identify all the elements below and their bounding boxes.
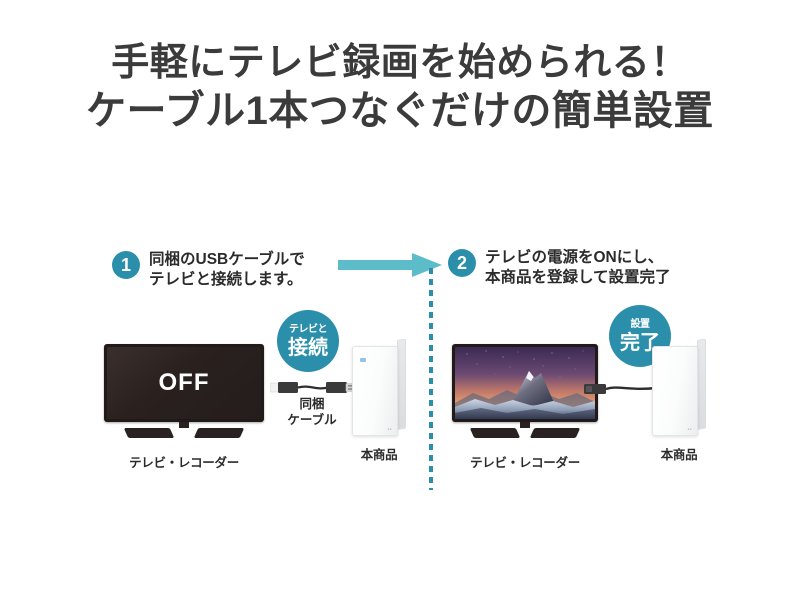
hdd-step-2-label: 本商品 <box>634 444 724 463</box>
hdd-step-1-label: 本商品 <box>334 444 424 463</box>
usb-cable-label-line-1: 同梱 <box>262 396 362 412</box>
usb-cable-label: 同梱 ケーブル <box>262 396 362 428</box>
step-1-line-2: テレビと接続します。 <box>149 270 305 290</box>
usb-cable-label-line-2: ケーブル <box>262 412 362 428</box>
tv-step-2-label: テレビ・レコーダー <box>452 452 598 471</box>
badge-connect-small: テレビと <box>289 325 327 335</box>
usb-cable-connected-icon <box>584 382 656 396</box>
hdd-brand-mark: ●● <box>387 427 392 431</box>
tv-screen-on <box>455 347 595 419</box>
tv-stand <box>452 428 598 439</box>
step-1-line-1: 同梱のUSBケーブルで <box>149 250 305 270</box>
usb-cable-icon <box>270 380 354 396</box>
tv-foot-left <box>470 428 520 438</box>
step-2-line-1: テレビの電源をONにし、 <box>485 248 671 268</box>
headline-line-1-text: 手軽にテレビ録画を始められる！ <box>111 42 689 84</box>
badge-connect-large: 接続 <box>288 338 328 358</box>
badge-done-small: 設置 <box>631 320 650 330</box>
hdd-body: ●● <box>652 340 706 436</box>
led-indicator-icon <box>360 358 366 362</box>
badge-connect: テレビと 接続 <box>277 310 339 372</box>
tv-foot-left <box>124 428 174 438</box>
step-2-header: 2 テレビの電源をONにし、 本商品を登録して設置完了 <box>448 248 671 288</box>
hdd-step-2: ●● 本商品 <box>652 340 706 436</box>
right-arrow-icon <box>338 252 442 278</box>
tv-bezel <box>452 344 598 422</box>
tv-step-2: テレビ・レコーダー <box>452 344 598 439</box>
headline-line-2-text: ケーブル1本つなぐだけの簡単設置 <box>86 89 714 133</box>
hdd-front-panel: ●● <box>352 346 398 436</box>
dotted-vertical-divider-icon <box>429 268 433 490</box>
step-1-number: 1 <box>112 251 140 279</box>
step-1-header: 1 同梱のUSBケーブルで テレビと接続します。 <box>112 250 305 290</box>
hdd-side-panel <box>697 339 706 430</box>
hdd-step-1: ●● 本商品 <box>352 340 406 436</box>
tv-foot-right <box>193 428 243 438</box>
tv-screen-off: OFF <box>107 347 261 419</box>
page-title: 手軽にテレビ録画を始められる！ ケーブル1本つなぐだけの簡単設置 <box>0 40 800 136</box>
step-1-description: 同梱のUSBケーブルで テレビと接続します。 <box>149 250 305 290</box>
headline-line-2: ケーブル1本つなぐだけの簡単設置 <box>0 86 800 136</box>
hdd-brand-mark: ●● <box>687 427 692 431</box>
tv-bezel: OFF <box>104 344 264 422</box>
hdd-side-panel <box>397 339 406 430</box>
step-2-number: 2 <box>448 249 476 277</box>
tv-step-1: OFF テレビ・レコーダー <box>104 344 264 439</box>
tv-stand <box>104 428 264 439</box>
tv-step-1-label: テレビ・レコーダー <box>104 452 264 471</box>
hdd-front-panel: ●● <box>652 346 698 436</box>
tv-off-label: OFF <box>159 369 210 397</box>
step-2-line-2: 本商品を登録して設置完了 <box>485 268 671 288</box>
step-2-description: テレビの電源をONにし、 本商品を登録して設置完了 <box>485 248 671 288</box>
infographic-canvas: 手軽にテレビ録画を始められる！ ケーブル1本つなぐだけの簡単設置 1 同梱のUS… <box>0 0 800 600</box>
tv-foot-right <box>529 428 579 438</box>
hdd-body: ●● <box>352 340 406 436</box>
headline-line-1: 手軽にテレビ録画を始められる！ <box>0 40 800 86</box>
